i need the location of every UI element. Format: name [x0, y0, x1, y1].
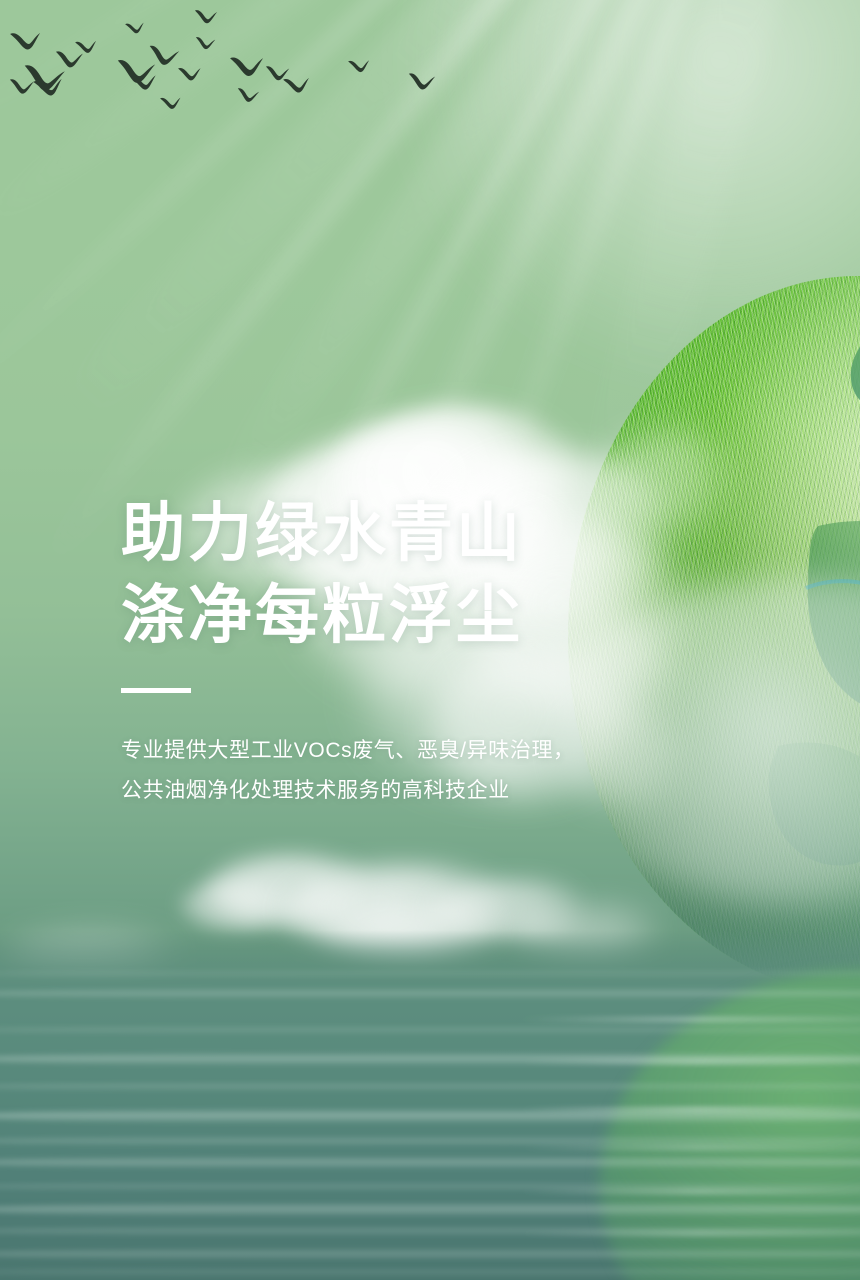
water-wave-streak: [0, 988, 860, 999]
reflection-streak: [520, 1106, 860, 1113]
reflection-streak: [520, 1058, 860, 1065]
headline-line-1: 助力绿水青山: [121, 492, 761, 574]
reflection-streak: [520, 1230, 860, 1237]
water-wave-streak: [0, 1026, 860, 1034]
water-surface: [0, 930, 860, 1280]
headline-line-2: 涤净每粒浮尘: [121, 574, 761, 656]
water-wave-streak: [0, 970, 860, 977]
water-wave-streak: [0, 1268, 860, 1276]
subcopy-line-1: 专业提供大型工业VOCs废气、恶臭/异味治理，: [121, 731, 761, 771]
water-wave-streak: [0, 1202, 860, 1217]
water-wave-streak: [0, 1082, 860, 1091]
reflection-streak: [520, 1144, 860, 1151]
water-wave-streak: [0, 1248, 860, 1260]
poster-copy: 助力绿水青山 涤净每粒浮尘 专业提供大型工业VOCs废气、恶臭/异味治理， 公共…: [121, 492, 761, 811]
title-divider: [121, 688, 191, 693]
water-wave-streak: [0, 1156, 860, 1169]
eco-promo-poster: 助力绿水青山 涤净每粒浮尘 专业提供大型工业VOCs废气、恶臭/异味治理， 公共…: [0, 0, 860, 1280]
reflection-streak: [520, 1016, 860, 1023]
subcopy-line-2: 公共油烟净化处理技术服务的高科技企业: [121, 771, 761, 811]
reflection-streak: [520, 1188, 860, 1195]
